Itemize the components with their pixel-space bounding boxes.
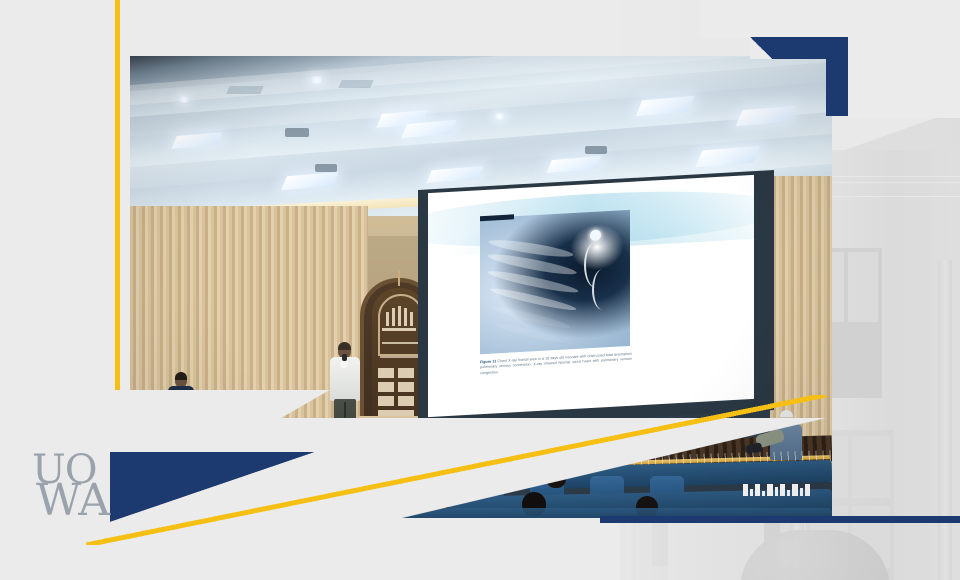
poster-canvas: Figure 11 Chest X-ray frontal view in a … [0, 0, 960, 580]
projection-screen: Figure 11 Chest X-ray frontal view in a … [428, 175, 754, 417]
slide-caption: Figure 11 Chest X-ray frontal view in a … [480, 352, 632, 377]
ceiling-vent [226, 86, 264, 94]
calligraphy-stroke [382, 328, 416, 331]
logo-letter-w: W [36, 481, 78, 521]
navy-corner-vertical [826, 37, 848, 116]
ceiling-downlight [310, 76, 323, 84]
calligraphy-stroke [410, 312, 413, 326]
kufic-block [398, 368, 414, 378]
uowa-logo: U O W A [30, 452, 114, 524]
slide-caption-text: Chest X-ray frontal view in a 18 days ol… [480, 352, 632, 375]
calligraphy-stroke [386, 312, 389, 326]
yellow-vertical-accent [115, 0, 120, 420]
navy-baseline-rule [600, 516, 960, 523]
navy-triangle [110, 452, 315, 522]
calligraphy-stroke [398, 306, 401, 326]
calligraphy-stroke [392, 308, 395, 326]
logo-letter-a: A [78, 481, 110, 521]
ceiling-projector [585, 146, 607, 154]
ceiling-downlight [178, 96, 190, 103]
navy-corner-notch [750, 37, 772, 59]
slide-figure-label: Figure 11 [480, 359, 496, 364]
ceiling-projector [315, 164, 337, 172]
ceiling-projector [285, 128, 309, 137]
kufic-block [398, 382, 414, 392]
ceiling-downlight [494, 113, 505, 120]
calligraphy-stroke [380, 356, 420, 358]
calligraphy-spire [398, 270, 400, 286]
chest-xray-image [480, 210, 630, 354]
calligraphy-stroke [382, 342, 418, 344]
kufic-block [378, 382, 394, 392]
kufic-block [378, 368, 394, 378]
top-right-mask [848, 0, 960, 118]
logo-line-2: W A [36, 481, 114, 521]
calligraphy-stroke [404, 308, 407, 326]
top-notch-mask [700, 0, 850, 38]
ceiling-vent [338, 80, 374, 88]
